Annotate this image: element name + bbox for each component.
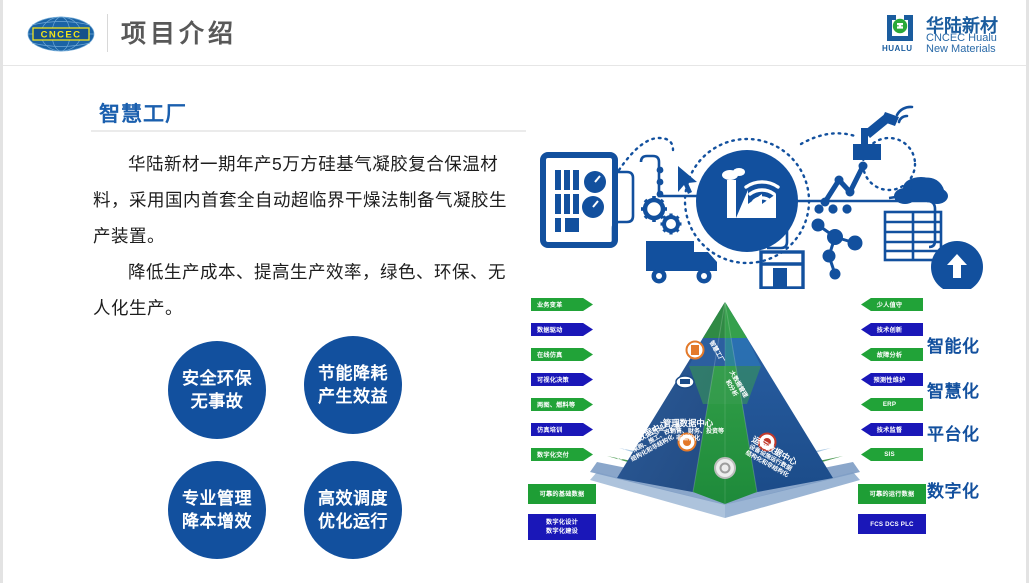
circle-management: 专业管理 降本增效: [168, 461, 266, 559]
circle-energy-line1: 节能降耗: [318, 362, 388, 385]
pyramid-right-tag-0: 少人值守: [861, 298, 923, 311]
pyramid-left-tag-3: 可视化决策: [531, 373, 593, 386]
hualu-logo: HUALU 华陆新材 CNCEC Hualu New Materials: [882, 12, 1010, 56]
pyramid-badge-engineering: [679, 434, 696, 451]
pyramid-left-tag-1: 数据驱动: [531, 323, 593, 336]
pyramid-right-box-1-line0: FCS DCS PLC: [870, 520, 913, 529]
pyramid-right-box-0-line0: 可靠的运行数据: [870, 490, 915, 499]
section-divider: [91, 130, 526, 132]
pyramid-right-tag-2: 故障分析: [861, 348, 923, 361]
section-title: 智慧工厂: [99, 98, 187, 128]
control-panel-icon: [543, 155, 615, 245]
robot-wifi-icon: [897, 107, 912, 122]
pyramid-right-tag-6: SIS: [861, 448, 923, 461]
svg-text:CNCEC: CNCEC: [41, 30, 82, 41]
header-divider: [107, 14, 108, 52]
pyramid-left-tag-0: 业务变革: [531, 298, 593, 311]
trunk-dots-icon: [657, 167, 664, 198]
cncec-logo: CNCEC: [25, 16, 97, 52]
pyramid-left-tag-2: 在线仿真: [531, 348, 593, 361]
server-rack-icon: [885, 212, 941, 260]
robot-arm-icon: [853, 112, 899, 160]
smart-factory-illustration: [523, 104, 1023, 289]
gears-icon: [641, 196, 682, 235]
truck-icon: [646, 241, 717, 284]
pyramid-left-box-0-line0: 可靠的基础数据: [540, 490, 585, 499]
circle-energy-line2: 产生效益: [318, 385, 388, 408]
circle-scheduling-line2: 优化运行: [318, 510, 388, 533]
pyramid-big-label-1: 智慧化: [927, 377, 980, 402]
pyramid-svg: [585, 292, 865, 540]
pyramid-left-tag-5: 仿真培训: [531, 423, 593, 436]
circle-scheduling: 高效调度 优化运行: [304, 461, 402, 559]
circle-management-line2: 降本增效: [182, 510, 252, 533]
hualu-english-line2: New Materials: [926, 43, 996, 55]
pyramid-badge-factory: [687, 342, 704, 359]
page-title: 项目介绍: [121, 18, 237, 50]
pyramid-right-tag-1: 技术创新: [861, 323, 923, 336]
bus-dots-icon: [814, 204, 851, 213]
body-copy: 华陆新材一期年产5万方硅基气凝胶复合保温材料，采用国内首套全自动超临界干燥法制备…: [93, 146, 513, 326]
pyramid-right-tag-5: 技术监督: [861, 423, 923, 436]
hualu-wordmark: HUALU: [882, 44, 913, 53]
pyramid-badge-operation: [759, 434, 776, 451]
circle-safety-line2: 无事故: [191, 390, 244, 413]
pyramid-badge-bigdata: [676, 376, 694, 388]
pyramid-left-tag-6: 数字化交付: [531, 448, 593, 461]
illustration-svg: [523, 104, 1023, 289]
paragraph-1: 华陆新材一期年产5万方硅基气凝胶复合保温材料，采用国内首套全自动超临界干燥法制备…: [93, 146, 513, 254]
circle-safety: 安全环保 无事故: [168, 341, 266, 439]
pyramid-right-tag-4: ERP: [861, 398, 923, 411]
factory-wifi-icon: [696, 150, 798, 252]
pyramid-big-label-3: 数字化: [927, 477, 980, 502]
cncec-logo-svg: CNCEC: [25, 16, 97, 52]
pyramid-left-box-1-line0: 数字化设计: [546, 518, 578, 527]
header-rule: [3, 65, 1026, 66]
circle-scheduling-line1: 高效调度: [318, 487, 388, 510]
pyramid-right-tag-3: 预测性维护: [861, 373, 923, 386]
pyramid-big-label-0: 智能化: [927, 332, 980, 357]
slide-canvas: CNCEC 项目介绍 HUALU 华陆新材 CNCEC Hualu New Ma…: [0, 0, 1029, 583]
slide-header: CNCEC 项目介绍 HUALU 华陆新材 CNCEC Hualu New Ma…: [3, 0, 1026, 66]
printer-icon: [761, 252, 803, 288]
molecule-icon: [813, 220, 861, 278]
pyramid-left-box-1-line1: 数字化建设: [546, 527, 578, 536]
circle-safety-line1: 安全环保: [182, 367, 252, 390]
circle-management-line1: 专业管理: [182, 487, 252, 510]
circle-energy: 节能降耗 产生效益: [304, 336, 402, 434]
cursor-icon: [678, 166, 697, 194]
cloud-icon: [894, 177, 948, 204]
pyramid-right-box-1: FCS DCS PLC: [858, 514, 926, 534]
upload-icon: [931, 241, 983, 289]
smart-factory-pyramid: 业务变革 数据驱动 在线仿真 可视化决策 两图、燃料等 仿真培训 数字化交付 可…: [523, 292, 1028, 547]
pyramid-right-box-0: 可靠的运行数据: [858, 484, 926, 504]
pyramid-left-tag-4: 两图、燃料等: [531, 398, 593, 411]
pyramid-big-label-2: 平台化: [927, 420, 980, 445]
hualu-mark-icon: [882, 12, 922, 44]
paragraph-2: 降低生产成本、提高生产效率，绿色、环保、无人化生产。: [93, 254, 513, 326]
pyramid-badge-center: [715, 458, 735, 478]
